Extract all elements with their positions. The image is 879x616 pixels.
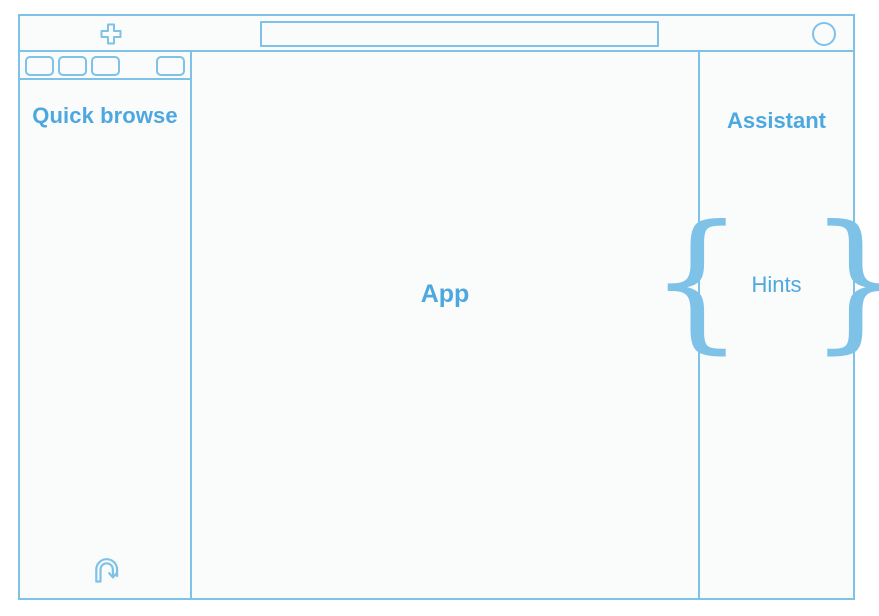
u-turn-arrow-button[interactable] bbox=[90, 554, 124, 588]
window-body: Quick browse App Assistant bbox=[20, 52, 853, 598]
browser-header-bar bbox=[20, 16, 853, 52]
plus-icon bbox=[99, 22, 123, 46]
sidebar-tab-3[interactable] bbox=[91, 56, 120, 76]
hints-group: { Hints } bbox=[708, 212, 845, 357]
u-turn-arrow-icon bbox=[92, 556, 122, 586]
app-content-area[interactable]: App bbox=[192, 52, 700, 598]
app-label: App bbox=[421, 280, 470, 309]
sidebar-tab-strip bbox=[20, 52, 190, 80]
profile-circle-icon[interactable] bbox=[812, 22, 836, 46]
assistant-title: Assistant bbox=[700, 108, 853, 134]
wireframe-canvas: Quick browse App Assistant bbox=[0, 0, 879, 616]
sidebar-title: Quick browse bbox=[20, 102, 190, 130]
address-bar-input[interactable] bbox=[260, 21, 659, 47]
quick-browse-sidebar: Quick browse bbox=[20, 52, 192, 598]
hints-label: Hints bbox=[744, 272, 808, 298]
sidebar-tab-2[interactable] bbox=[58, 56, 87, 76]
assistant-panel: Assistant { Hints } bbox=[700, 52, 853, 598]
sidebar-tab-4[interactable] bbox=[156, 56, 185, 76]
browser-window-frame: Quick browse App Assistant bbox=[18, 14, 855, 600]
sidebar-tab-1[interactable] bbox=[25, 56, 54, 76]
add-tab-button[interactable] bbox=[98, 21, 124, 47]
